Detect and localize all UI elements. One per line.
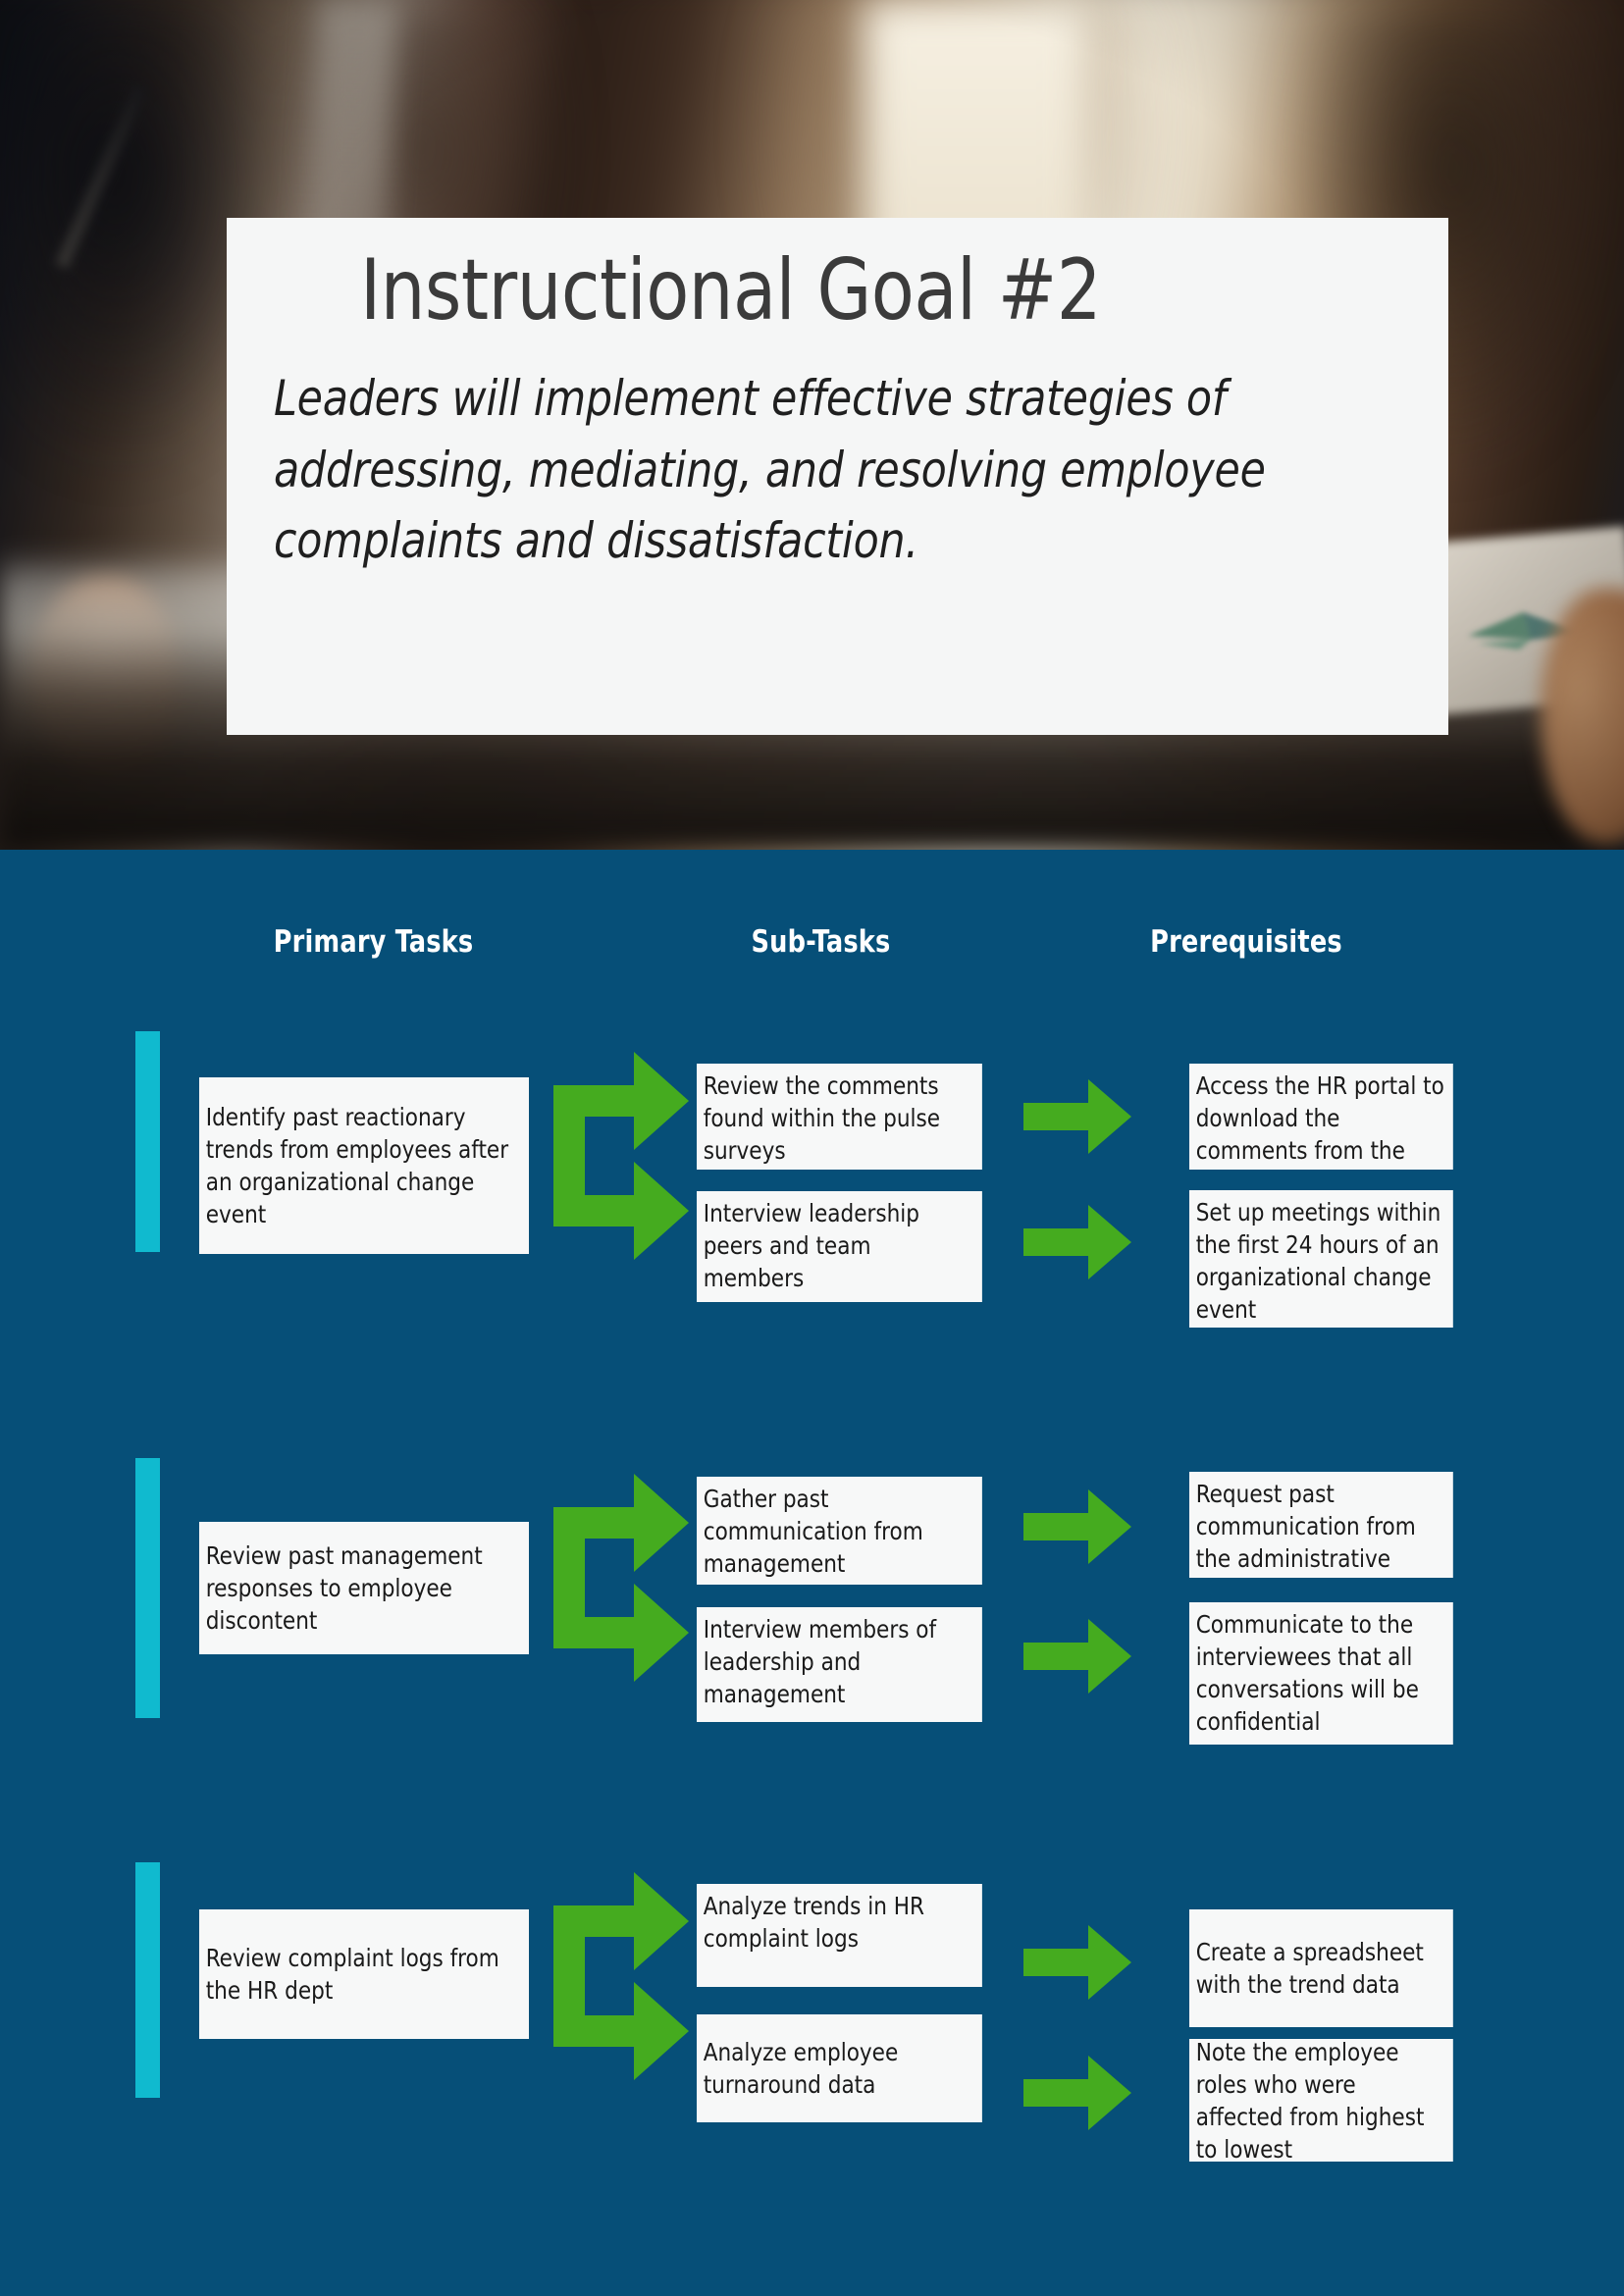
right-arrow-icon — [1023, 2054, 1131, 2132]
column-header-primary-tasks: Primary Tasks — [264, 924, 484, 960]
sub-task-box[interactable]: Interview members of leadership and mana… — [697, 1607, 982, 1722]
task-row: Review past management responses to empl… — [0, 1450, 1624, 1745]
prerequisite-box[interactable]: Access the HR portal to download the com… — [1189, 1064, 1453, 1170]
column-headers: Primary Tasks Sub-Tasks Prerequisites — [0, 924, 1624, 973]
branching-right-arrow-icon — [550, 1046, 693, 1267]
sub-task-box[interactable]: Review the comments found within the pul… — [697, 1064, 982, 1170]
sub-task-box[interactable]: Analyze employee turnaround data — [697, 2014, 982, 2122]
row-accent-bar — [135, 1458, 160, 1718]
prerequisite-box[interactable]: Communicate to the interviewees that all… — [1189, 1602, 1453, 1745]
branching-right-arrow-icon — [550, 1866, 693, 2087]
branching-right-arrow-icon — [550, 1468, 693, 1689]
title-card: Instructional Goal #2 Leaders will imple… — [227, 218, 1448, 735]
primary-task-box[interactable]: Identify past reactionary trends from em… — [199, 1077, 529, 1254]
prerequisite-box[interactable]: Request past communication from the admi… — [1189, 1472, 1453, 1578]
row-accent-bar — [135, 1031, 160, 1252]
right-arrow-icon — [1023, 1617, 1131, 1696]
column-header-prerequisites: Prerequisites — [1111, 924, 1382, 960]
sub-task-box[interactable]: Gather past communication from managemen… — [697, 1477, 982, 1585]
task-row: Review complaint logs from the HR dept A… — [0, 1862, 1624, 2157]
prerequisite-box[interactable]: Create a spreadsheet with the trend data — [1189, 1909, 1453, 2027]
prerequisite-box[interactable]: Set up meetings within the first 24 hour… — [1189, 1190, 1453, 1328]
primary-task-box[interactable]: Review complaint logs from the HR dept — [199, 1909, 529, 2039]
right-arrow-icon — [1023, 1077, 1131, 1156]
right-arrow-icon — [1023, 1923, 1131, 2002]
primary-task-box[interactable]: Review past management responses to empl… — [199, 1522, 529, 1654]
row-accent-bar — [135, 1862, 160, 2098]
sub-task-box[interactable]: Interview leadership peers and team memb… — [697, 1191, 982, 1302]
prerequisite-box[interactable]: Note the employee roles who were affecte… — [1189, 2039, 1453, 2162]
right-arrow-icon — [1023, 1487, 1131, 1566]
column-header-sub-tasks: Sub-Tasks — [711, 924, 931, 960]
task-row: Identify past reactionary trends from em… — [0, 1017, 1624, 1311]
page-title: Instructional Goal #2 — [360, 243, 1329, 338]
page-subtitle: Leaders will implement effective strateg… — [274, 363, 1345, 577]
right-arrow-icon — [1023, 1203, 1131, 1281]
sub-task-box[interactable]: Analyze trends in HR complaint logs — [697, 1884, 982, 1987]
